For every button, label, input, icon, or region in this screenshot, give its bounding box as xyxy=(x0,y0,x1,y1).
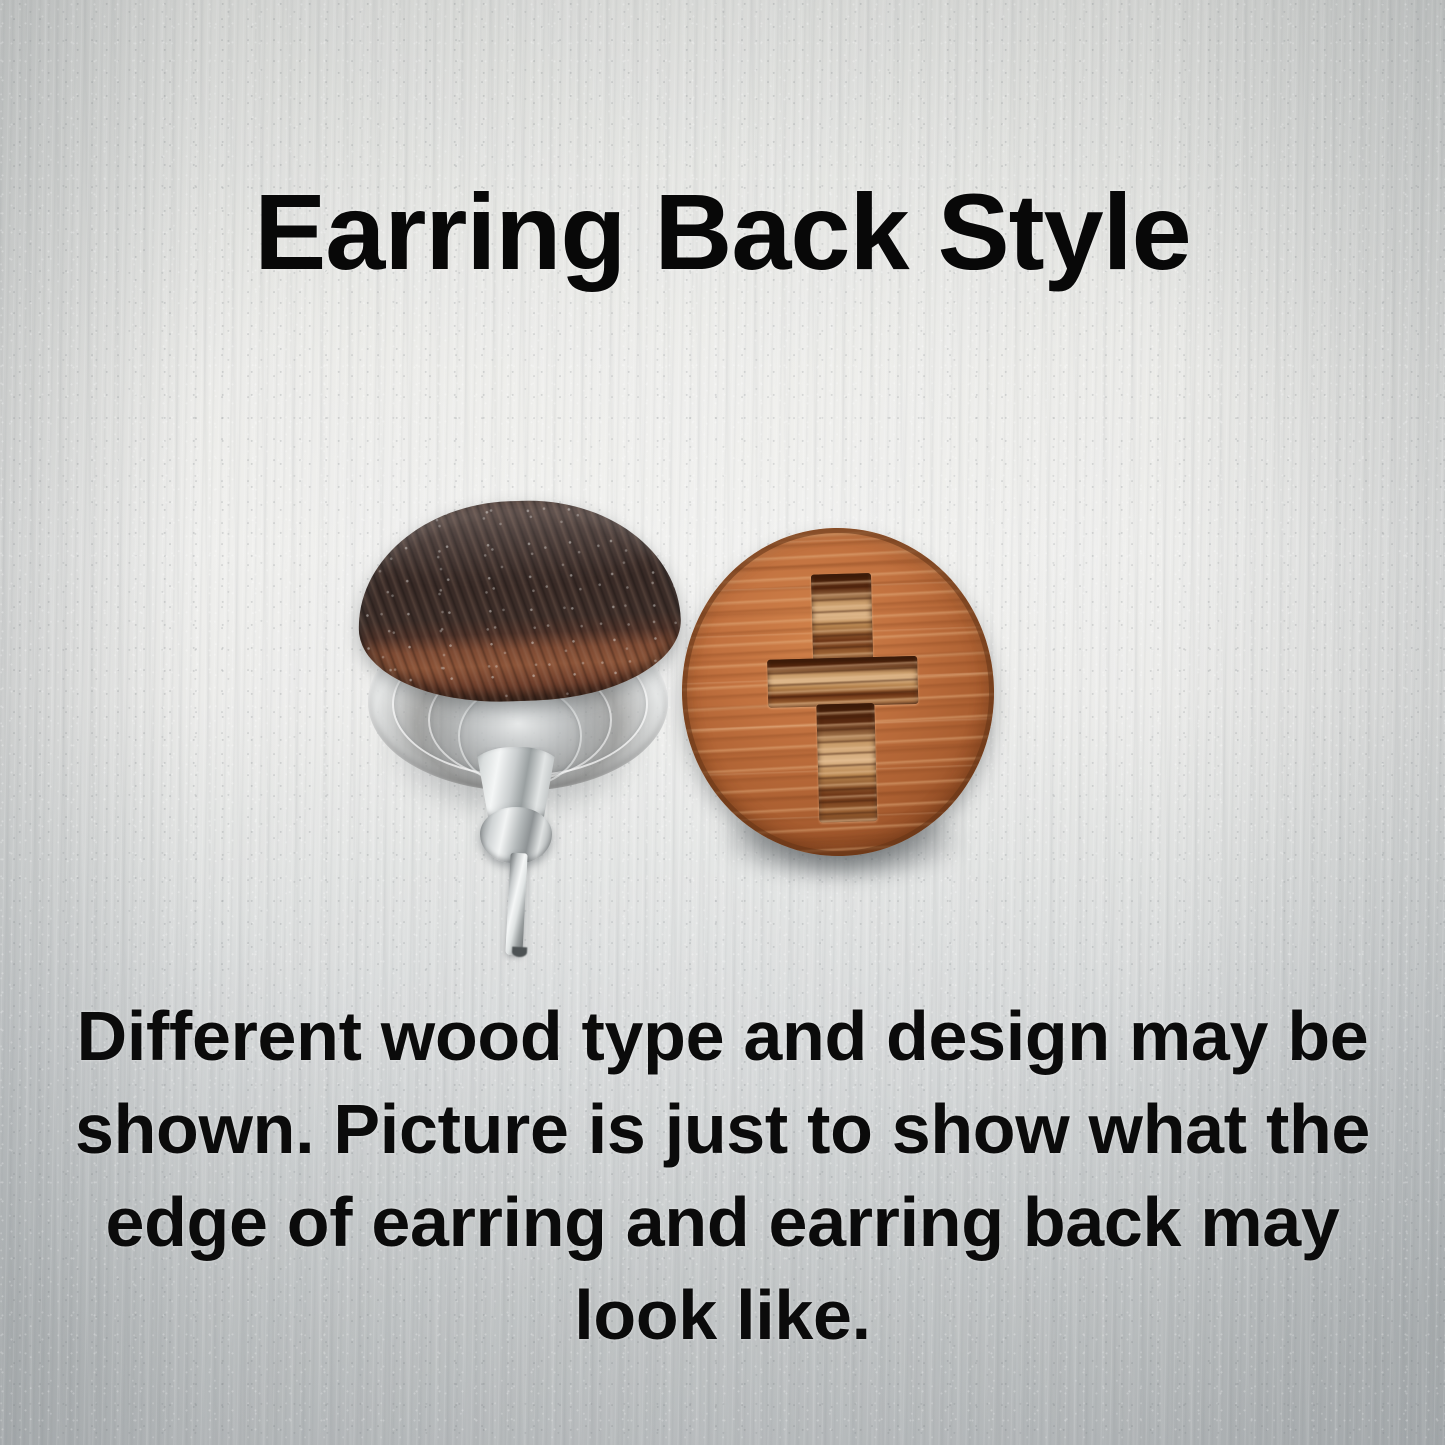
disclaimer-caption: Different wood type and design may be sh… xyxy=(38,990,1407,1362)
image-canvas: Earring Back Style Different wood type a… xyxy=(0,0,1445,1445)
page-title: Earring Back Style xyxy=(0,178,1445,286)
